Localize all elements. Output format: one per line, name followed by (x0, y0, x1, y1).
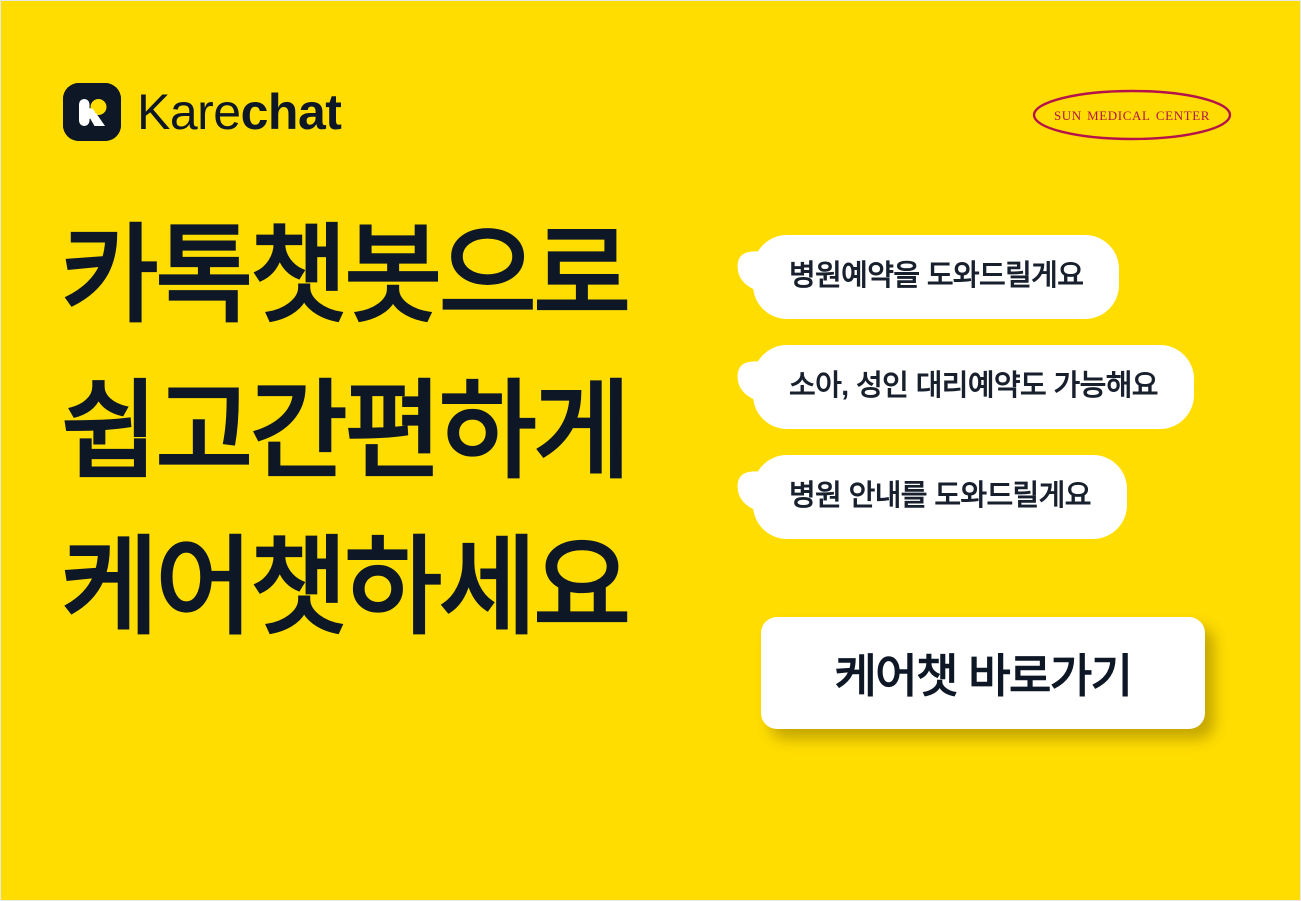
chat-bubble: 병원예약을 도와드릴게요 (753, 235, 1119, 319)
chat-bubble: 소아, 성인 대리예약도 가능해요 (753, 345, 1194, 429)
speech-bubble-tail-icon (736, 249, 770, 297)
headline-line-1: 카톡챗봇으로 (61, 197, 695, 353)
speech-bubble-tail-icon (736, 359, 770, 407)
promo-banner: Karechat Sun Medical Center 카톡챗봇으로 쉽고간편하… (0, 0, 1301, 901)
karechat-brand-logo[interactable]: Karechat (63, 83, 341, 141)
headline-line-3: 케어챗하세요 (61, 509, 695, 665)
wordmark-bold-part: chat (241, 87, 342, 137)
chat-bubble-list: 병원예약을 도와드릴게요 소아, 성인 대리예약도 가능해요 병원 안내를 도와… (753, 235, 1194, 565)
chat-bubble-text: 병원예약을 도와드릴게요 (789, 260, 1083, 292)
chat-bubble-row: 병원 안내를 도와드릴게요 (753, 455, 1194, 565)
sun-medical-center-logo: Sun Medical Center (1032, 89, 1232, 141)
headline: 카톡챗봇으로 쉽고간편하게 케어챗하세요 (61, 197, 701, 665)
chat-bubble-text: 병원 안내를 도와드릴게요 (789, 480, 1091, 512)
chat-bubble-row: 소아, 성인 대리예약도 가능해요 (753, 345, 1194, 455)
speech-bubble-tail-icon (736, 469, 770, 517)
karechat-k-logo-icon (63, 83, 121, 141)
chat-bubble-text: 소아, 성인 대리예약도 가능해요 (789, 370, 1158, 402)
chat-bubble: 병원 안내를 도와드릴게요 (753, 455, 1127, 539)
chat-bubble-row: 병원예약을 도와드릴게요 (753, 235, 1194, 345)
headline-line-2: 쉽고간편하게 (61, 353, 695, 509)
karechat-wordmark: Karechat (137, 87, 341, 137)
wordmark-light-part: Kare (137, 87, 241, 137)
cta-button-label: 케어챗 바로가기 (834, 640, 1131, 706)
karechat-cta-button[interactable]: 케어챗 바로가기 (761, 617, 1205, 729)
partner-logo-text: Sun Medical Center (1054, 104, 1210, 126)
